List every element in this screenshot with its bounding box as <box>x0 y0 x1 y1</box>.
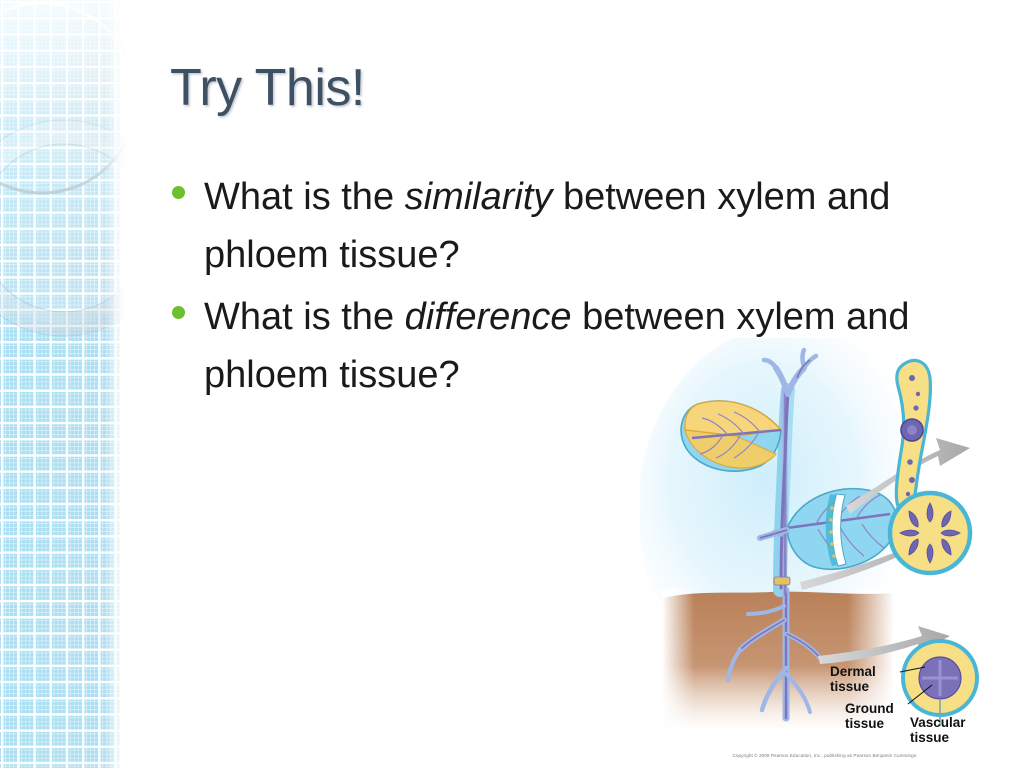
stem-node-band <box>774 577 790 585</box>
bullet-dot-icon <box>172 186 185 199</box>
bullet-lead: What is the <box>204 176 405 218</box>
bullet-text: What is the similarity between xylem and… <box>204 168 996 284</box>
sidebar-grid-pattern <box>0 0 120 768</box>
decorative-sidebar <box>0 0 126 768</box>
stem-cross-section-callout <box>890 493 970 573</box>
bullet-emphasis: difference <box>405 296 572 338</box>
root-cross-section-callout <box>900 641 977 726</box>
slide-canvas: Try This! What is the similarity between… <box>0 0 1024 768</box>
figure-label-ground-tissue: Ground tissue <box>845 702 894 731</box>
figure-label-vascular-tissue: Vascular tissue <box>910 716 966 745</box>
bullet-dot-icon <box>172 306 185 319</box>
bullet-lead: What is the <box>204 296 405 338</box>
plant-diagram-svg <box>640 338 1024 768</box>
figure-label-dermal-tissue: Dermal tissue <box>830 665 876 694</box>
page-title: Try This! <box>170 58 365 118</box>
copyright-notice: Copyright © 2008 Pearson Education, Inc.… <box>660 753 990 758</box>
bullet-emphasis: similarity <box>405 176 553 218</box>
plant-tissue-figure <box>640 338 1024 768</box>
list-item: What is the similarity between xylem and… <box>172 168 996 284</box>
